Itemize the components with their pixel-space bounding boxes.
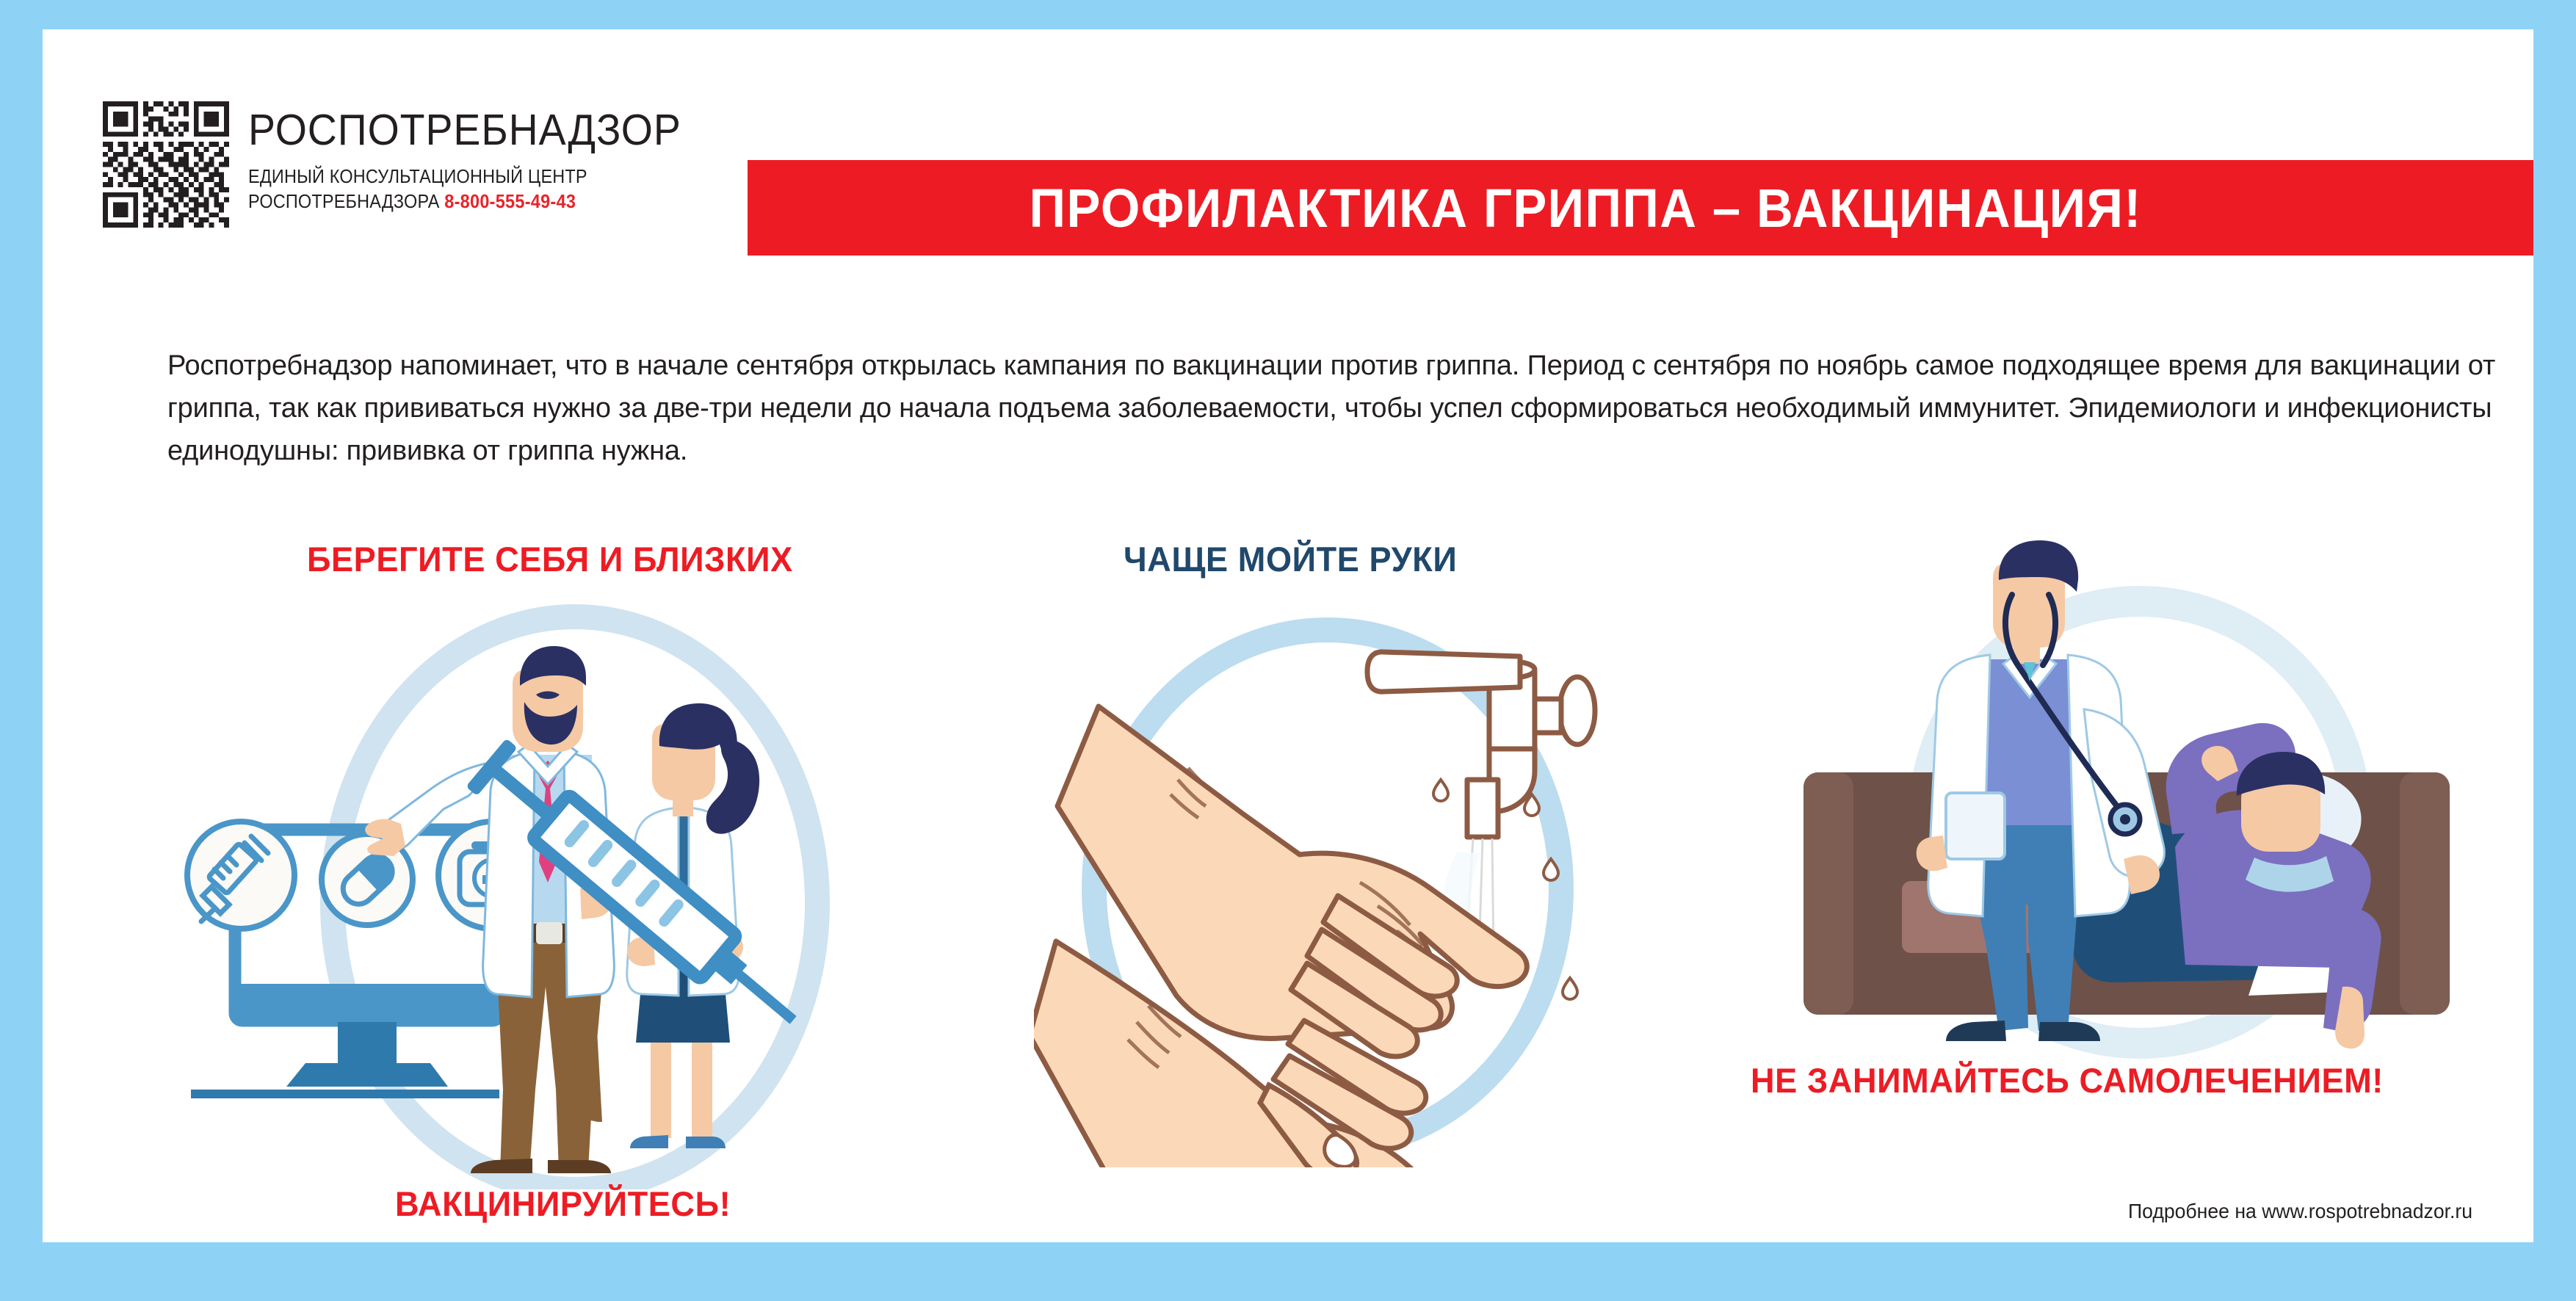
intro-paragraph: Роспотребнадзор напоминает, что в начале… bbox=[167, 345, 2503, 472]
brand-subtitle-line1: ЕДИНЫЙ КОНСУЛЬТАЦИОННЫЙ ЦЕНТР bbox=[248, 165, 672, 190]
qr-code-icon bbox=[103, 101, 229, 228]
poster-sheet: РОСПОТРЕБНАДЗОР ЕДИНЫЙ КОНСУЛЬТАЦИОННЫЙ … bbox=[43, 29, 2533, 1242]
illustration-handwashing bbox=[1034, 609, 1665, 1167]
coat-pocket bbox=[1946, 793, 2005, 859]
title-banner: ПРОФИЛАКТИКА ГРИППА – ВАКЦИНАЦИЯ! bbox=[748, 160, 2533, 256]
brand-name: РОСПОТРЕБНАДЗОР bbox=[248, 109, 681, 152]
illustration-vaccination bbox=[175, 587, 924, 1189]
brand-block: РОСПОТРЕБНАДЗОР ЕДИНЫЙ КОНСУЛЬТАЦИОННЫЙ … bbox=[103, 101, 709, 228]
brand-subtitle-line2: РОСПОТРЕБНАДЗОРА 8-800-555-49-43 bbox=[248, 190, 672, 215]
page-title: ПРОФИЛАКТИКА ГРИППА – ВАКЦИНАЦИЯ! bbox=[1030, 177, 2142, 239]
brand-subtitle-line2-label: РОСПОТРЕБНАДЗОРА bbox=[248, 192, 440, 212]
brand-text-block: РОСПОТРЕБНАДЗОР ЕДИНЫЙ КОНСУЛЬТАЦИОННЫЙ … bbox=[248, 101, 709, 215]
panel-heading-self-medication: НЕ ЗАНИМАЙТЕСЬ САМОЛЕЧЕНИЕМ! bbox=[1751, 1060, 2384, 1101]
hotline-phone[interactable]: 8-800-555-49-43 bbox=[444, 192, 576, 212]
panel-heading-handwashing: ЧАЩЕ МОЙТЕ РУКИ bbox=[1124, 539, 1457, 579]
poster-root: РОСПОТРЕБНАДЗОР ЕДИНЫЙ КОНСУЛЬТАЦИОННЫЙ … bbox=[0, 0, 2576, 1301]
illustration-self-medication bbox=[1732, 499, 2576, 1065]
panel-caption-vaccinate: ВАКЦИНИРУЙТЕСЬ! bbox=[395, 1184, 731, 1224]
panel-heading-vaccination: БЕРЕГИТЕ СЕБЯ И БЛИЗКИХ bbox=[307, 539, 793, 579]
footer-note[interactable]: Подробнее на www.rospotrebnadzor.ru bbox=[2128, 1200, 2472, 1223]
syringe-icon bbox=[187, 822, 294, 929]
brand-subtitle: ЕДИНЫЙ КОНСУЛЬТАЦИОННЫЙ ЦЕНТР РОСПОТРЕБН… bbox=[248, 165, 672, 215]
